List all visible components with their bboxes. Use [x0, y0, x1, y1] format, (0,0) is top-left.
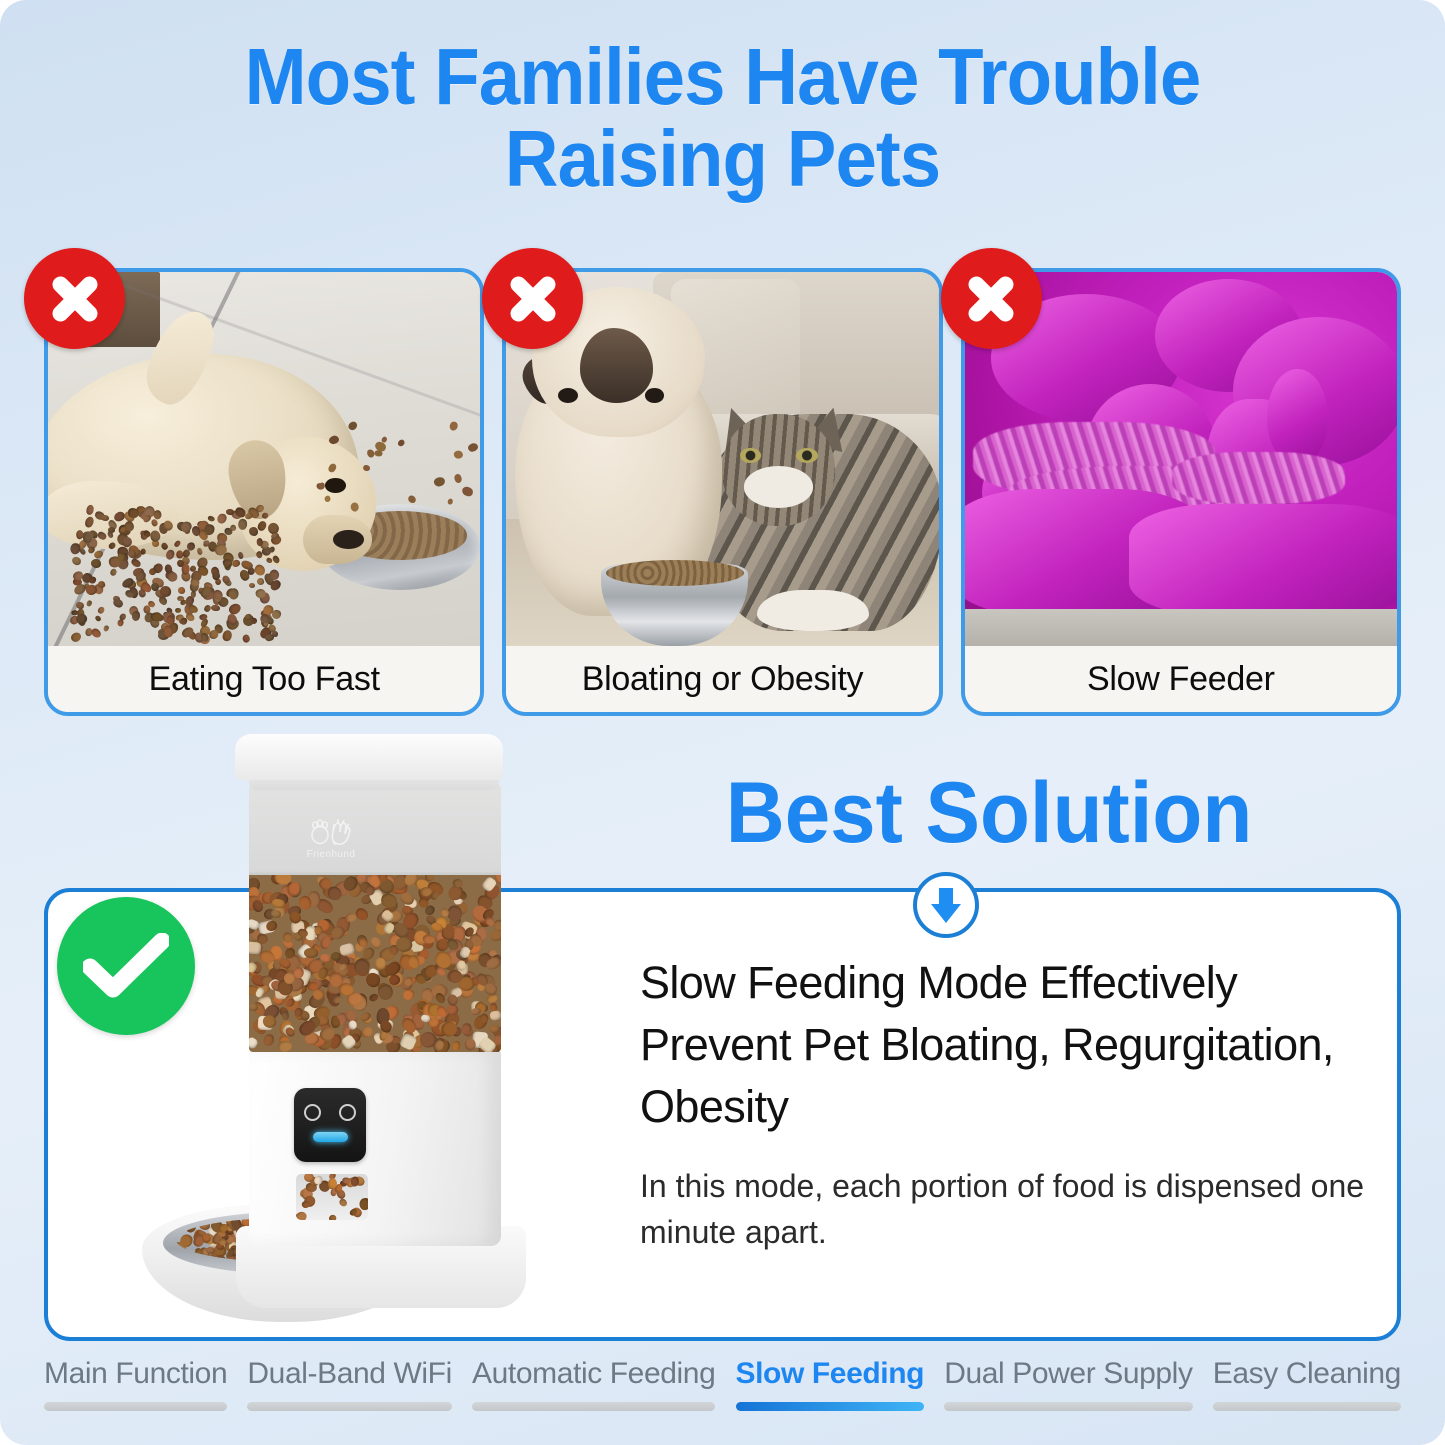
tab-dual-band-wifi[interactable]: Dual-Band WiFi — [247, 1357, 451, 1411]
feeder-lid — [235, 734, 503, 780]
tab-automatic-feeding[interactable]: Automatic Feeding — [472, 1357, 715, 1411]
record-icon[interactable] — [304, 1104, 321, 1121]
x-mark-icon — [482, 248, 583, 349]
product-image-automatic-pet-feeder: Frienhund — [118, 734, 558, 1344]
infographic-page: Most Families Have Trouble Raising Pets … — [0, 0, 1445, 1445]
tab-underline — [44, 1402, 227, 1411]
problem-card-caption: Slow Feeder — [965, 646, 1397, 712]
page-title: Most Families Have Trouble Raising Pets — [51, 36, 1395, 199]
feeder-hopper — [249, 782, 501, 1052]
tab-label: Dual-Band WiFi — [247, 1357, 451, 1391]
tab-underline — [736, 1402, 925, 1411]
tab-slow-feeding[interactable]: Slow Feeding — [736, 1357, 925, 1411]
problem-card: Eating Too Fast — [44, 268, 484, 716]
brand-name: Frienhund — [307, 849, 356, 860]
solution-text-block: Slow Feeding Mode Effectively Prevent Pe… — [640, 952, 1380, 1255]
tab-label: Main Function — [44, 1357, 227, 1391]
tab-label: Dual Power Supply — [944, 1357, 1192, 1391]
feeder-kibble-fill — [249, 875, 501, 1052]
tab-label: Easy Cleaning — [1213, 1357, 1401, 1391]
feeder-body — [249, 1050, 501, 1246]
tab-label: Automatic Feeding — [472, 1357, 715, 1391]
tab-dual-power-supply[interactable]: Dual Power Supply — [944, 1357, 1192, 1411]
problem-card: Bloating or Obesity — [502, 268, 942, 716]
tab-easy-cleaning[interactable]: Easy Cleaning — [1213, 1357, 1401, 1411]
headline-line-1: Most Families Have Trouble — [51, 36, 1395, 118]
tab-underline — [1213, 1402, 1401, 1411]
solution-subtitle: In this mode, each portion of food is di… — [640, 1164, 1380, 1255]
feeder-control-panel[interactable] — [294, 1088, 366, 1162]
problem-card-list: Eating Too Fast — [44, 268, 1401, 716]
problem-card-caption: Bloating or Obesity — [506, 646, 938, 712]
feed-bowl-icon[interactable] — [339, 1104, 356, 1121]
solution-title: Slow Feeding Mode Effectively Prevent Pe… — [640, 952, 1380, 1138]
feeder-dispense-chute — [296, 1174, 368, 1220]
tab-underline — [944, 1402, 1192, 1411]
feature-tab-bar: Main Function Dual-Band WiFi Automatic F… — [0, 1357, 1445, 1429]
tab-label: Slow Feeding — [736, 1357, 925, 1391]
problem-card-inner: Eating Too Fast — [48, 272, 480, 712]
problem-card-caption: Eating Too Fast — [48, 646, 480, 712]
down-arrow-icon — [913, 872, 979, 938]
best-solution-heading: Best Solution — [600, 770, 1379, 856]
tab-underline — [472, 1402, 715, 1411]
status-led — [313, 1132, 348, 1142]
x-mark-icon — [941, 248, 1042, 349]
x-mark-icon — [24, 248, 125, 349]
headline-line-2: Raising Pets — [51, 118, 1395, 200]
paw-high-five-icon: Frienhund — [292, 818, 370, 868]
tab-underline — [247, 1402, 451, 1411]
problem-card: Slow Feeder — [961, 268, 1401, 716]
problem-card-inner: Slow Feeder — [965, 272, 1397, 712]
tab-main-function[interactable]: Main Function — [44, 1357, 227, 1411]
problem-card-inner: Bloating or Obesity — [506, 272, 938, 712]
